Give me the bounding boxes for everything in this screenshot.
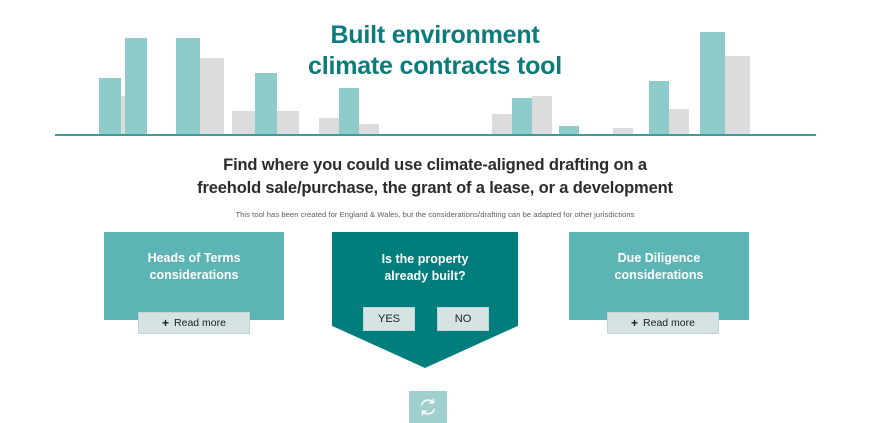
chart-bar [532,96,552,136]
card-title-line2: considerations [104,267,284,284]
chart-bar [255,73,277,136]
read-more-label: Read more [643,317,695,329]
chart-bar [339,88,359,136]
question-card-title: Is the property already built? [332,251,518,285]
question-title-line2: already built? [332,268,518,285]
read-more-button-due-diligence[interactable]: + Read more [607,312,719,334]
chart-bar [669,109,689,136]
page-title-line2: climate contracts tool [0,51,870,82]
chart-bar [492,114,512,136]
answer-yes-button[interactable]: YES [363,307,415,331]
intro-heading-line2: freehold sale/purchase, the grant of a l… [0,177,870,200]
chart-bar [649,81,669,136]
intro-section: Find where you could use climate-aligned… [0,154,870,219]
card-due-diligence-title: Due Diligence considerations [569,250,749,284]
card-title-line1: Due Diligence [569,250,749,267]
jurisdiction-note: This tool has been created for England &… [0,210,870,219]
intro-heading-line1: Find where you could use climate-aligned… [0,154,870,177]
reset-button[interactable] [409,391,447,423]
chart-baseline [55,134,816,136]
card-due-diligence[interactable]: Due Diligence considerations [569,232,749,320]
page-title-line1: Built environment [0,20,870,51]
plus-icon: + [631,316,638,330]
card-title-line1: Heads of Terms [104,250,284,267]
chart-bar [277,111,299,136]
question-title-line1: Is the property [332,251,518,268]
answer-no-button[interactable]: NO [437,307,489,331]
chart-bar [512,98,532,136]
cards-row: Heads of Terms considerations + Read mor… [0,232,870,372]
question-card-property-built: Is the property already built? YES NO [332,232,518,368]
chart-bar [99,78,121,136]
refresh-icon [418,397,438,417]
card-heads-of-terms-title: Heads of Terms considerations [104,250,284,284]
card-heads-of-terms[interactable]: Heads of Terms considerations [104,232,284,320]
card-title-line2: considerations [569,267,749,284]
read-more-button-heads-of-terms[interactable]: + Read more [138,312,250,334]
read-more-label: Read more [174,317,226,329]
intro-heading: Find where you could use climate-aligned… [0,154,870,201]
page-title: Built environment climate contracts tool [0,20,870,81]
plus-icon: + [162,316,169,330]
chart-bar [232,111,255,136]
hero-banner: Built environment climate contracts tool [0,0,870,140]
